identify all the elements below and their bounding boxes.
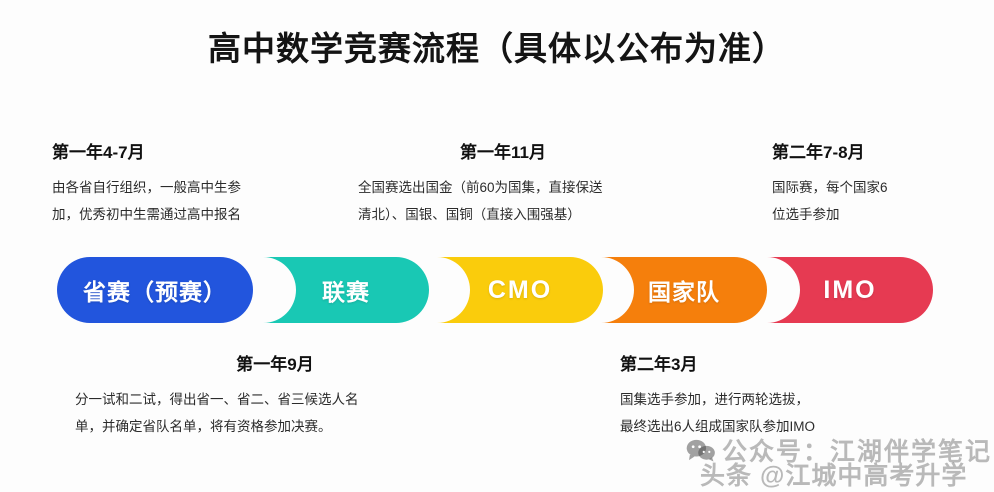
process-step-label: 国家队: [648, 273, 720, 307]
infographic-canvas: 高中数学竞赛流程（具体以公布为准） 第一年4-7月 由各省自行组织，一般高中生参…: [0, 0, 994, 492]
annotation-line: 位选手参加: [772, 201, 888, 228]
annotation-heading: 第一年9月: [75, 350, 475, 375]
annotation-body: 由各省自行组织，一般高中生参 加，优秀初中生需通过高中报名: [52, 174, 241, 228]
annotation-line: 加，优秀初中生需通过高中报名: [52, 201, 241, 228]
wechat-icon: [686, 438, 716, 462]
process-step-lian-sai[interactable]: 联赛: [263, 257, 429, 323]
annotation-line: 由各省自行组织，一般高中生参: [52, 174, 241, 201]
annotation-heading: 第二年3月: [620, 350, 960, 375]
annotation-body: 国际赛，每个国家6 位选手参加: [772, 174, 888, 228]
annotation-line: 清北）、国银、国铜（直接入围强基）: [358, 201, 718, 228]
process-step-imo[interactable]: IMO: [767, 257, 933, 323]
process-step-label: 省赛（预赛）: [83, 273, 227, 307]
annotation-line: 全国赛选出国金（前60为国集，直接保送: [358, 174, 718, 201]
annotation-line: 分一试和二试，得出省一、省二、省三候选人名: [75, 386, 495, 413]
annotation-bottom-1: 第一年9月 分一试和二试，得出省一、省二、省三候选人名 单，并确定省队名单，将有…: [75, 350, 495, 440]
annotation-top-1: 第一年4-7月 由各省自行组织，一般高中生参 加，优秀初中生需通过高中报名: [52, 138, 241, 228]
annotation-body: 全国赛选出国金（前60为国集，直接保送 清北）、国银、国铜（直接入围强基）: [358, 174, 718, 228]
annotation-body: 国集选手参加，进行两轮选拔， 最终选出6人组成国家队参加IMO: [620, 386, 960, 440]
annotation-line: 单，并确定省队名单，将有资格参加决赛。: [75, 413, 495, 440]
process-step-label: IMO: [823, 276, 876, 305]
annotation-top-2: 第一年11月 全国赛选出国金（前60为国集，直接保送 清北）、国银、国铜（直接入…: [358, 138, 718, 228]
annotation-top-3: 第二年7-8月 国际赛，每个国家6 位选手参加: [772, 138, 888, 228]
process-step-label: 联赛: [322, 273, 370, 307]
annotation-heading: 第二年7-8月: [772, 138, 888, 163]
process-step-label: CMO: [488, 276, 552, 305]
annotation-line: 国际赛，每个国家6: [772, 174, 888, 201]
page-title: 高中数学竞赛流程（具体以公布为准）: [0, 22, 994, 70]
annotation-heading: 第一年11月: [358, 138, 648, 163]
process-flow-bar: 省赛（预赛） 联赛 CMO 国家队 IMO: [0, 257, 994, 327]
annotation-body: 分一试和二试，得出省一、省二、省三候选人名 单，并确定省队名单，将有资格参加决赛…: [75, 386, 495, 440]
annotation-heading: 第一年4-7月: [52, 138, 241, 163]
annotation-bottom-2: 第二年3月 国集选手参加，进行两轮选拔， 最终选出6人组成国家队参加IMO: [620, 350, 960, 440]
annotation-line: 最终选出6人组成国家队参加IMO: [620, 413, 960, 440]
process-step-guo-jia-dui[interactable]: 国家队: [601, 257, 767, 323]
annotation-line: 国集选手参加，进行两轮选拔，: [620, 386, 960, 413]
process-step-sheng-sai[interactable]: 省赛（预赛）: [57, 257, 253, 323]
process-step-cmo[interactable]: CMO: [437, 257, 603, 323]
watermark-toutiao: 头条 @江城中高考升学: [700, 456, 967, 492]
